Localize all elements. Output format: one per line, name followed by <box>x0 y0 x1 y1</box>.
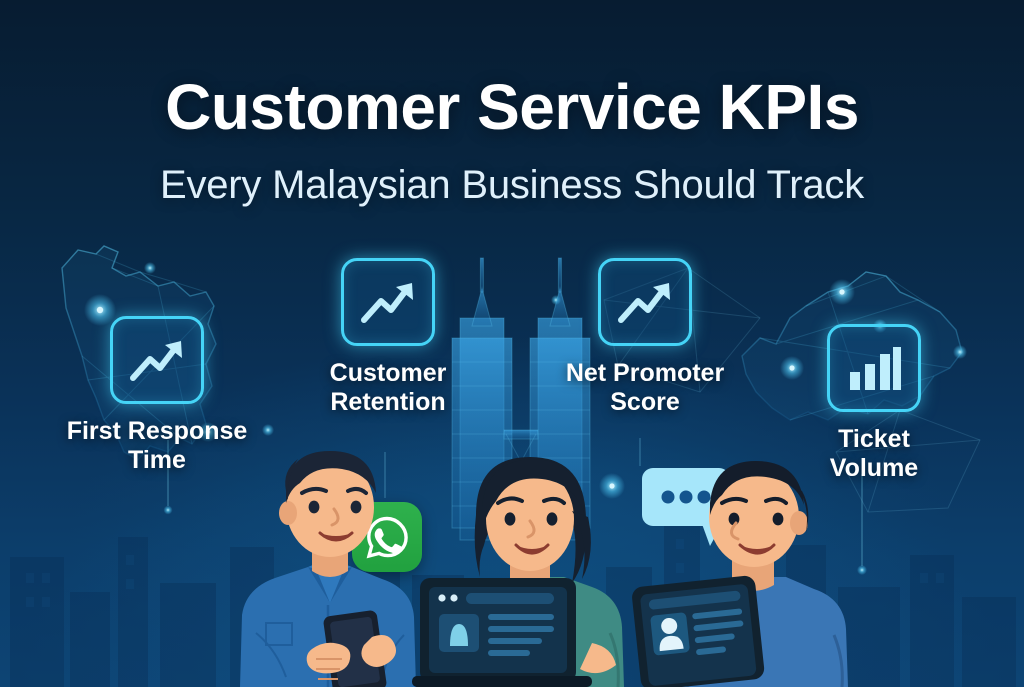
page-subtitle: Every Malaysian Business Should Track <box>0 163 1024 208</box>
trending-up-icon <box>341 258 435 346</box>
laptop-device <box>412 572 592 687</box>
bar-chart-icon <box>827 324 921 412</box>
kpi-label: Customer Retention <box>295 359 481 417</box>
trending-up-icon <box>598 258 692 346</box>
trending-up-icon <box>110 316 204 404</box>
man-with-smartphone <box>216 437 436 687</box>
tablet-device <box>628 577 768 687</box>
header-block: Customer Service KPIs Every Malaysian Bu… <box>0 74 1024 208</box>
page-title: Customer Service KPIs <box>0 74 1024 141</box>
kpi-item-customer-retention[interactable]: Customer Retention <box>295 258 481 417</box>
infographic-canvas: Customer Service KPIs Every Malaysian Bu… <box>0 0 1024 687</box>
kpi-label: Net Promoter Score <box>545 359 745 417</box>
kpi-item-net-promoter-score[interactable]: Net Promoter Score <box>545 258 745 417</box>
